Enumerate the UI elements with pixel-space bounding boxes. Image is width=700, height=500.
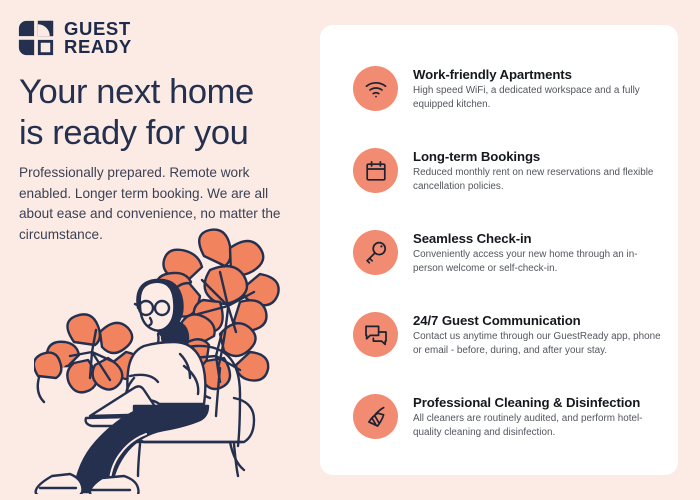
feature-item-seamless-check-in[interactable]: Seamless Check-in Conveniently access yo… — [353, 229, 663, 276]
feature-item-work-friendly-apartments[interactable]: Work-friendly Apartments High speed WiFi… — [353, 65, 663, 112]
guestready-quadrant-logo-icon — [17, 19, 55, 57]
broom-icon — [353, 394, 398, 439]
headline-line-1: Your next home — [19, 72, 309, 113]
feature-title: Long-term Bookings — [413, 149, 540, 164]
features-panel: Work-friendly Apartments High speed WiFi… — [320, 25, 678, 475]
hero-illustration — [34, 226, 310, 494]
hero-column: GUEST READY Your next home is ready for … — [0, 0, 320, 500]
page-title: Your next home is ready for you — [19, 72, 309, 154]
feature-title: Work-friendly Apartments — [413, 67, 572, 82]
key-icon — [353, 230, 398, 275]
chat-bubbles-icon — [353, 312, 398, 357]
feature-item-professional-cleaning[interactable]: Professional Cleaning & Disinfection All… — [353, 393, 663, 440]
brand-logo[interactable]: GUEST READY — [17, 19, 132, 57]
person — [36, 280, 208, 494]
feature-item-long-term-bookings[interactable]: Long-term Bookings Reduced monthly rent … — [353, 147, 663, 194]
feature-description: Conveniently access your new home throug… — [413, 248, 661, 276]
headline-line-2: is ready for you — [19, 113, 309, 154]
feature-description: High speed WiFi, a dedicated workspace a… — [413, 84, 661, 112]
feature-title: Professional Cleaning & Disinfection — [413, 395, 640, 410]
calendar-icon — [353, 148, 398, 193]
feature-title: Seamless Check-in — [413, 231, 532, 246]
feature-item-guest-communication[interactable]: 24/7 Guest Communication Contact us anyt… — [353, 311, 663, 358]
feature-description: Contact us anytime through our GuestRead… — [413, 330, 661, 358]
brand-wordmark: GUEST READY — [64, 20, 132, 56]
feature-description: All cleaners are routinely audited, and … — [413, 412, 661, 440]
feature-title: 24/7 Guest Communication — [413, 313, 581, 328]
wifi-icon — [353, 66, 398, 111]
feature-description: Reduced monthly rent on new reservations… — [413, 166, 661, 194]
brand-name-line2: READY — [64, 38, 132, 56]
